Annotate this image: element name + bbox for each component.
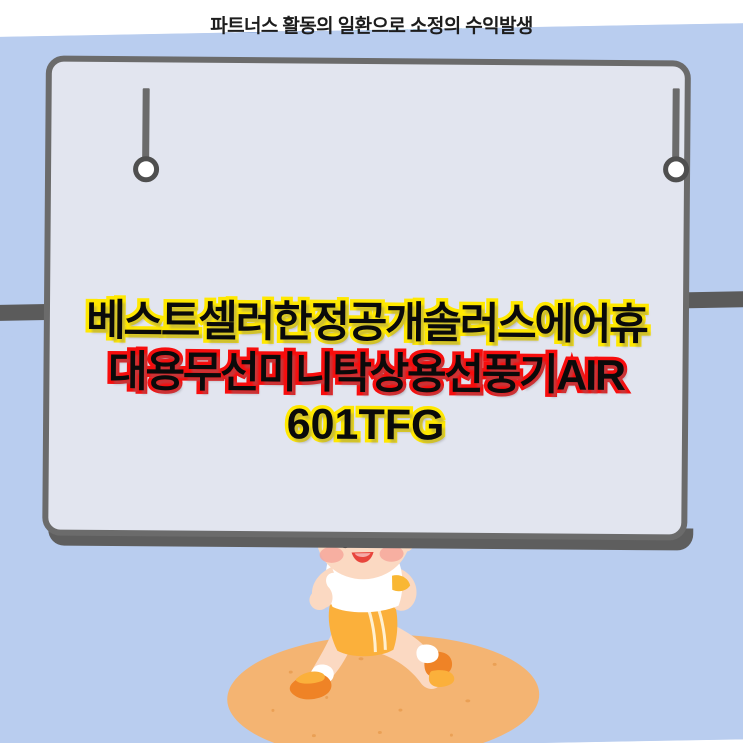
product-title-line-2: 대용무선미니탁상용선풍기AIR xyxy=(43,346,688,402)
eyelet-right xyxy=(663,156,689,182)
hanger-rod-left xyxy=(142,88,150,164)
eyelet-left xyxy=(133,156,159,182)
page-title: 파트너스 활동의 일환으로 소정의 수익발생 xyxy=(0,11,743,38)
product-title-line-3: 601TFG xyxy=(43,397,688,453)
product-title-block: 베스트셀러한정공개솔러스에어휴 대용무선미니탁상용선풍기AIR 601TFG xyxy=(43,295,689,453)
product-title-line-1: 베스트셀러한정공개솔러스에어휴 xyxy=(44,295,689,351)
poster-canvas: 파트너스 활동의 일환으로 소정의 수익발생 무료 배송받기 xyxy=(0,0,743,743)
hanger-rod-right xyxy=(672,88,680,164)
whiteboard: 베스트셀러한정공개솔러스에어휴 대용무선미니탁상용선풍기AIR 601TFG xyxy=(42,55,697,558)
